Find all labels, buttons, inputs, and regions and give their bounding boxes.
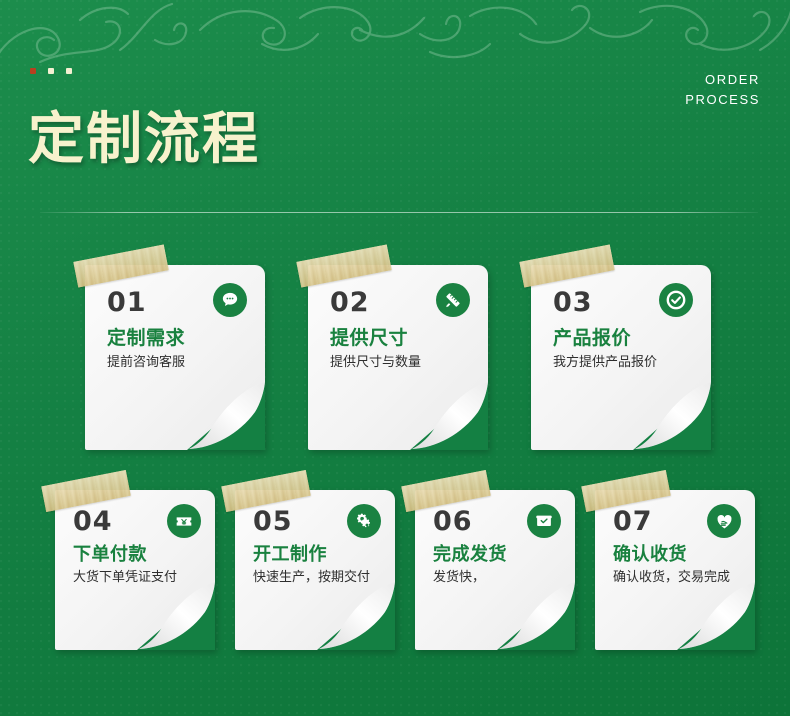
step-card[interactable]: 07 确认收货 确认收货，交易完成 (595, 490, 755, 650)
dot-cream-icon (66, 68, 72, 74)
eyebrow-line-2: PROCESS (685, 90, 760, 110)
tape-strip (519, 244, 614, 287)
step-number: 04 (73, 506, 113, 537)
dot-red-icon (30, 68, 36, 74)
step-number: 07 (613, 506, 653, 537)
step-desc: 大货下单凭证支付 (73, 568, 205, 587)
tape-strip (73, 244, 168, 287)
step-desc: 提供尺寸与数量 (330, 353, 480, 372)
step-card[interactable]: 05 开工制作 快速生产，按期交付 (235, 490, 395, 650)
eyebrow-line-1: ORDER (685, 70, 760, 90)
step-title: 提供尺寸 (330, 323, 408, 350)
step-title: 完成发货 (433, 540, 507, 566)
step-number: 06 (433, 506, 473, 537)
swirl-ornament-icon (0, 0, 790, 72)
yen-voucher-icon (167, 504, 201, 538)
step-desc: 我方提供产品报价 (553, 353, 703, 372)
step-card[interactable]: 02 提供尺寸 提供尺寸与数量 (308, 265, 488, 450)
page-curl (317, 582, 395, 650)
step-number: 03 (553, 287, 593, 318)
check-circle-icon (659, 283, 693, 317)
page-curl (677, 582, 755, 650)
decorative-dots (30, 68, 72, 74)
step-title: 下单付款 (73, 540, 147, 566)
step-card[interactable]: 06 完成发货 发货快， (415, 490, 575, 650)
step-title: 开工制作 (253, 540, 327, 566)
step-card[interactable]: 04 下单付款 大货下单凭证支付 (55, 490, 215, 650)
page-curl (137, 582, 215, 650)
page-curl (410, 382, 488, 450)
heart-hand-icon (707, 504, 741, 538)
gears-icon (347, 504, 381, 538)
step-title: 产品报价 (553, 323, 631, 350)
package-check-icon (527, 504, 561, 538)
page-curl (187, 382, 265, 450)
page-title: 定制流程 (28, 108, 260, 172)
order-process-banner: ORDER PROCESS 定制流程 01 定制需求 提前咨询客服 02 提供尺… (0, 0, 790, 716)
step-card[interactable]: 01 定制需求 提前咨询客服 (85, 265, 265, 450)
dot-cream-icon (48, 68, 54, 74)
step-desc: 确认收货，交易完成 (613, 568, 745, 587)
step-title: 确认收货 (613, 540, 687, 566)
step-number: 02 (330, 287, 370, 318)
header-divider (40, 212, 758, 213)
ruler-pencil-icon (436, 283, 470, 317)
page-curl (497, 582, 575, 650)
step-desc: 提前咨询客服 (107, 353, 257, 372)
step-desc: 发货快， (433, 568, 565, 587)
chat-bubble-icon (213, 283, 247, 317)
step-number: 05 (253, 506, 293, 537)
step-card[interactable]: 03 产品报价 我方提供产品报价 (531, 265, 711, 450)
step-number: 01 (107, 287, 147, 318)
step-desc: 快速生产，按期交付 (253, 568, 385, 587)
eyebrow-label: ORDER PROCESS (685, 70, 760, 110)
page-curl (633, 382, 711, 450)
tape-strip (296, 244, 391, 287)
step-title: 定制需求 (107, 323, 185, 350)
